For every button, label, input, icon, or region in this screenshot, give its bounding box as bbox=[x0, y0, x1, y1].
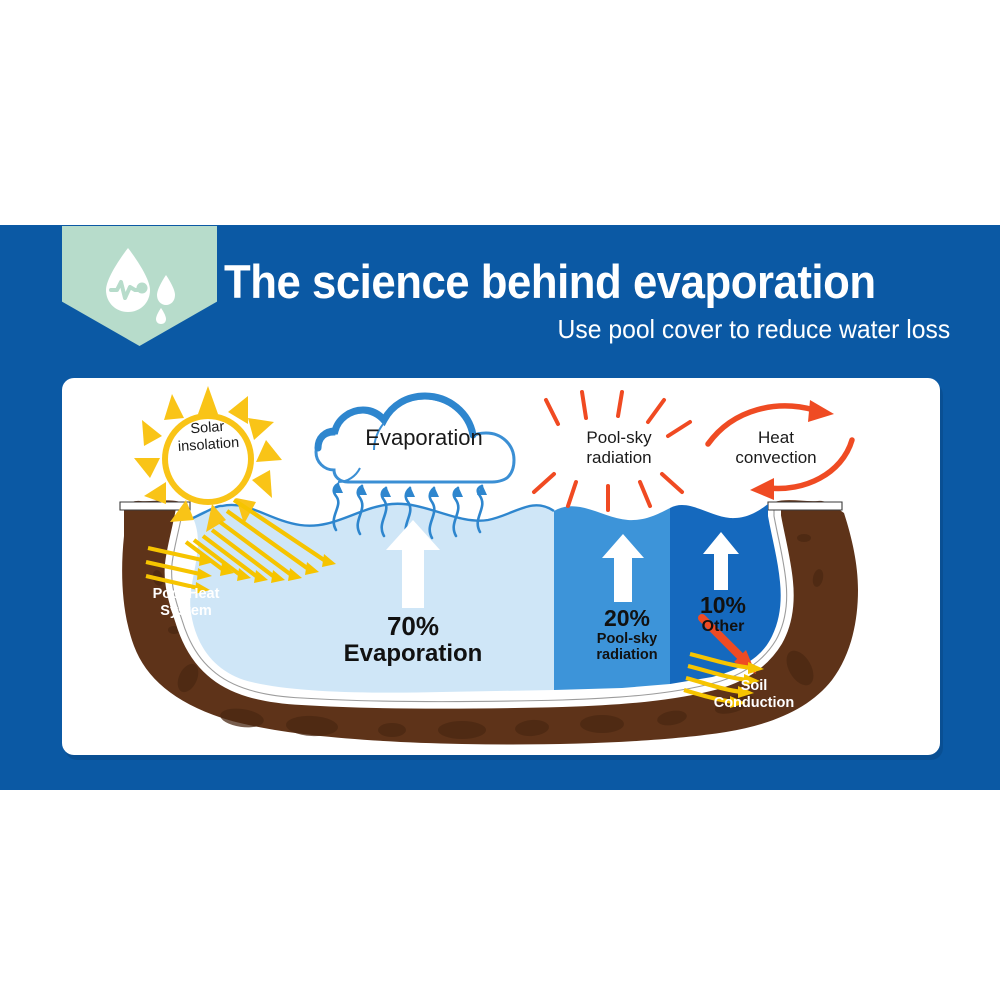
page-subtitle: Use pool cover to reduce water loss bbox=[261, 314, 955, 344]
pool-coping-right bbox=[768, 502, 842, 510]
soil-conduction-line1: Soil bbox=[741, 678, 768, 694]
heat-convection-line1: Heat bbox=[758, 428, 794, 447]
heat-convection-arrowhead-up bbox=[808, 400, 834, 422]
evaporation-percent: 70% bbox=[320, 612, 506, 640]
solar-insolation-line1: Solar bbox=[190, 419, 225, 437]
breakdown-poolsky: 20% Pool-sky radiation bbox=[574, 606, 680, 663]
header-text-block: The science behind evaporation Use pool … bbox=[224, 255, 954, 344]
evaporation-label: Evaporation bbox=[320, 640, 506, 667]
heat-convection-label: Heat convection bbox=[714, 428, 838, 468]
pool-sky-radiation-line1: Pool-sky bbox=[586, 428, 651, 447]
solar-insolation-line2: insolation bbox=[177, 435, 239, 455]
pool-sky-radiation-line2: radiation bbox=[586, 448, 651, 467]
solar-insolation-label: Solar insolation bbox=[161, 417, 255, 457]
poolsky-label-line1: Pool-sky bbox=[574, 631, 680, 647]
page-title: The science behind evaporation bbox=[224, 255, 903, 308]
heat-convection-arrowhead-down bbox=[750, 478, 774, 500]
pool-coping-left bbox=[120, 502, 190, 510]
pool-heat-system-line1: Pool Heat bbox=[153, 586, 220, 602]
soil-conduction-line2: Conduction bbox=[714, 695, 795, 711]
other-percent: 10% bbox=[678, 593, 768, 618]
soil-conduction-label: Soil Conduction bbox=[692, 678, 816, 712]
other-label: Other bbox=[678, 618, 768, 636]
breakdown-evaporation: 70% Evaporation bbox=[320, 612, 506, 667]
poolsky-label-line2: radiation bbox=[574, 647, 680, 663]
evaporation-cloud-label: Evaporation bbox=[354, 425, 494, 451]
breakdown-other: 10% Other bbox=[678, 593, 768, 636]
diagram-card: Solar insolation Evaporation Pool-sky ra… bbox=[62, 378, 940, 755]
pool-heat-system-label: Pool Heat System bbox=[140, 586, 232, 620]
pool-heat-system-line2: System bbox=[160, 603, 212, 619]
poolsky-percent: 20% bbox=[574, 606, 680, 631]
pool-sky-radiation-label: Pool-sky radiation bbox=[560, 428, 678, 468]
infographic-page: The science behind evaporation Use pool … bbox=[0, 0, 1000, 1000]
heat-convection-line2: convection bbox=[735, 448, 816, 467]
